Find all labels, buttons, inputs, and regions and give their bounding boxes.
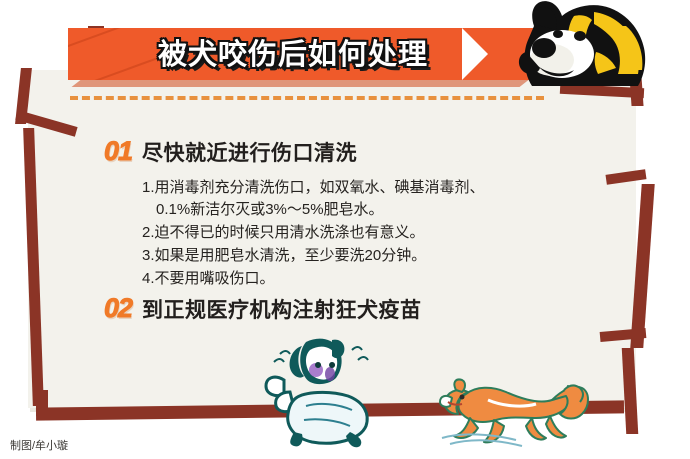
list-item: 2.迫不得已的时候只用清水洗涤也有意义。 [142, 222, 485, 244]
bulldog-mascot-icon [498, 0, 676, 92]
list-item-line1: 1.用消毒剂充分清洗伤口，如双氧水、碘基消毒剂、 [142, 179, 485, 196]
section-02-heading: 到正规医疗机构注射狂犬疫苗 [142, 294, 422, 324]
page-title: 被犬咬伤后如何处理 [128, 34, 458, 76]
list-item: 3.如果是用肥皂水清洗，至少要洗20分钟。 [142, 245, 485, 267]
dashed-divider [70, 96, 544, 100]
section-01-header: 01 尽快就近进行伤口清洗 [104, 136, 485, 167]
section-01-number: 01 [104, 136, 132, 167]
section-02-header: 02 到正规医疗机构注射狂犬疫苗 [104, 293, 422, 324]
list-item: 4.不要用嘴吸伤口。 [142, 268, 485, 290]
title-banner-notch-icon [462, 28, 488, 80]
infographic-poster: 被犬咬伤后如何处理 01 尽快就近进行伤口清洗 1.用消毒剂充分清 [0, 0, 690, 459]
chasing-dog-icon [432, 364, 608, 448]
section-01-heading: 尽快就近进行伤口清洗 [142, 137, 357, 167]
list-item-line2: 0.1%新洁尔灭或3%～5%肥皂水。 [142, 199, 485, 221]
list-item: 1.用消毒剂充分清洗伤口，如双氧水、碘基消毒剂、 0.1%新洁尔灭或3%～5%肥… [142, 177, 485, 221]
section-01-list: 1.用消毒剂充分清洗伤口，如双氧水、碘基消毒剂、 0.1%新洁尔灭或3%～5%肥… [142, 177, 485, 290]
section-01: 01 尽快就近进行伤口清洗 1.用消毒剂充分清洗伤口，如双氧水、碘基消毒剂、 0… [104, 136, 485, 291]
section-02: 02 到正规医疗机构注射狂犬疫苗 [104, 293, 422, 324]
section-02-number: 02 [104, 293, 132, 324]
frightened-person-icon [244, 336, 394, 448]
credit-line: 制图/牟小璇 [10, 437, 68, 453]
title-banner-shadow [72, 80, 529, 87]
